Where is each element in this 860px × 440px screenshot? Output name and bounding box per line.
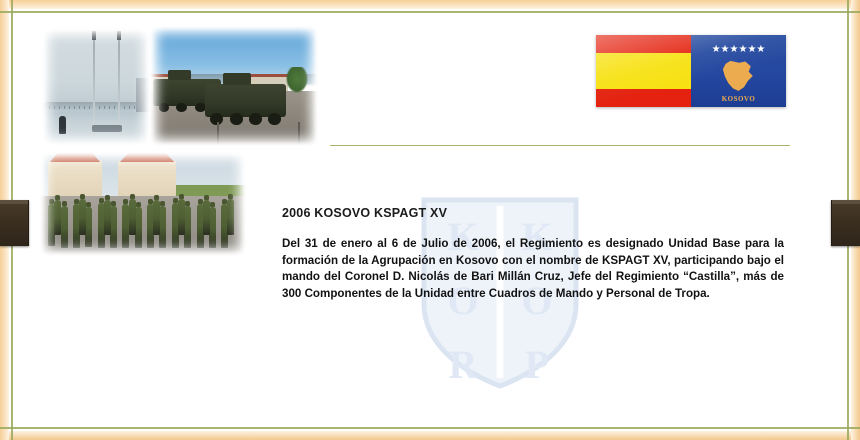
ribbon-tab-right — [831, 200, 860, 246]
slide-page: ★★★★★★ KOSOVO K O R K O P 2006 KOSOVO KS… — [0, 0, 860, 440]
kosovo-stars: ★★★★★★ — [691, 45, 786, 55]
photo-flagpoles-scene — [42, 28, 150, 146]
section-divider — [330, 145, 790, 146]
standing-figure — [59, 116, 66, 134]
soldier — [110, 206, 117, 248]
soldier — [184, 206, 191, 248]
barracks-building-2 — [118, 161, 176, 195]
frame-rule-top — [0, 11, 860, 13]
flagpole-right — [118, 35, 120, 134]
photo-formation-scene — [40, 152, 246, 256]
svg-text:R: R — [449, 342, 479, 387]
soldier — [129, 199, 136, 235]
flagpole-left — [93, 35, 95, 134]
photo-flagpoles — [42, 28, 150, 146]
svg-text:P: P — [525, 342, 549, 387]
soldier — [54, 200, 61, 235]
fence-line — [44, 106, 148, 109]
soldier — [209, 207, 216, 248]
page-title: 2006 KOSOVO KSPAGT XV — [282, 206, 784, 220]
photo-vehicles-scene — [150, 26, 318, 146]
flagpole-base — [92, 125, 122, 132]
barracks-building-1 — [48, 161, 102, 195]
turret — [168, 70, 191, 80]
soldier — [85, 207, 92, 247]
wheel — [249, 113, 262, 124]
soldier — [104, 200, 111, 235]
photo-armored-vehicles — [150, 26, 318, 146]
soldier — [178, 199, 185, 235]
wheel — [268, 113, 281, 124]
frame-band-top — [0, 0, 860, 9]
kosovo-label: KOSOVO — [691, 95, 786, 103]
ribbon-tab-left — [0, 200, 29, 246]
caption-block: 2006 KOSOVO KSPAGT XV Del 31 de enero al… — [282, 206, 784, 302]
soldier — [135, 207, 142, 248]
marker-post — [217, 122, 219, 144]
wheel — [230, 113, 243, 124]
armored-vehicle-2 — [205, 84, 286, 118]
soldier — [79, 199, 86, 235]
flag-kosovo-icon: ★★★★★★ KOSOVO — [691, 35, 786, 107]
tree — [286, 67, 308, 93]
frame-rule-bottom — [0, 427, 860, 429]
frame-band-bottom — [0, 431, 860, 440]
flag-spain-icon — [596, 35, 691, 107]
soldier — [153, 200, 160, 235]
watchtower — [136, 78, 150, 112]
turret — [223, 73, 250, 85]
soldier — [61, 206, 68, 248]
caption-paragraph: Del 31 de enero al 6 de Julio de 2006, e… — [282, 236, 784, 302]
soldier — [227, 199, 234, 235]
soldier — [159, 206, 166, 248]
photo-troop-formation — [40, 152, 246, 256]
marker-post — [298, 122, 300, 144]
flags-banner: ★★★★★★ KOSOVO — [596, 35, 786, 107]
kosovo-map-outline — [722, 61, 756, 91]
soldier — [203, 200, 210, 235]
